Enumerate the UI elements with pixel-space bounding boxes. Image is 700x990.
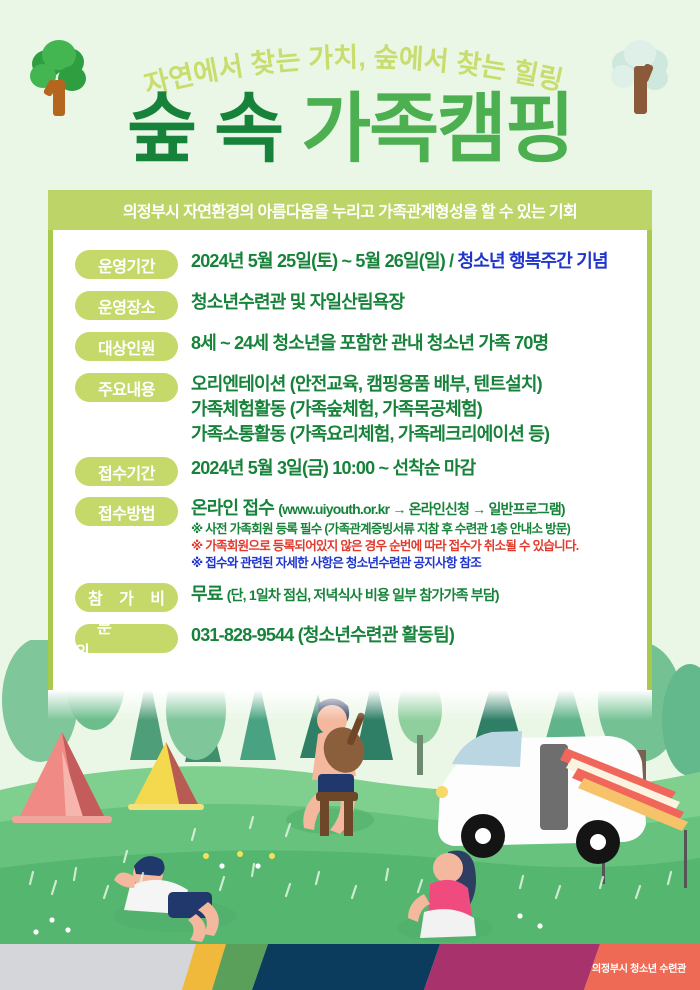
footer-organization: 의정부시 청소년 수련관 bbox=[592, 960, 686, 975]
info-row-label: 운영장소 bbox=[75, 291, 178, 320]
value-segment: 031-828-9544 (청소년수련관 활동팀) bbox=[191, 625, 454, 645]
value-segment: 오리엔테이션 (안전교육, 캠핑용품 배부, 텐트설치) bbox=[191, 374, 542, 394]
info-row-label: 대상인원 bbox=[75, 332, 178, 361]
info-row-label: 참 가 비 bbox=[75, 583, 178, 612]
value-segment: 무료 bbox=[191, 584, 227, 604]
info-row-label: 주요내용 bbox=[75, 373, 178, 402]
poster-root: 자연에서 찾는 가치, 숲에서 찾는 힐링 숲 속 가족캠핑 의정부시 자연환경… bbox=[0, 0, 700, 990]
info-row: 참 가 비무료 (단, 1일차 점심, 저녁식사 비용 일부 참가가족 부담) bbox=[53, 581, 647, 612]
info-row: 운영기간2024년 5월 25일(토) ~ 5월 26일(일) / 청소년 행복… bbox=[53, 248, 647, 279]
info-row-label: 문 의 bbox=[75, 624, 178, 653]
info-row-label: 접수기간 bbox=[75, 457, 178, 486]
info-row-body: 온라인 접수 (www.uiyouth.or.kr → 온라인신청 → 일반프로… bbox=[191, 495, 579, 571]
info-row-body: 무료 (단, 1일차 점심, 저녁식사 비용 일부 참가가족 부담) bbox=[191, 581, 499, 607]
value-segment: (www.uiyouth.or.kr → 온라인신청 → 일반프로그램) bbox=[278, 501, 565, 517]
value-segment: 온라인 접수 bbox=[191, 498, 278, 518]
info-row-value: 2024년 5월 25일(토) ~ 5월 26일(일) / 청소년 행복주간 기… bbox=[191, 249, 608, 274]
info-row-note: ※ 가족회원으로 등록되어있지 않은 경우 순번에 따라 접수가 취소될 수 있… bbox=[191, 538, 579, 555]
info-row-note: ※ 접수와 관련된 자세한 사항은 청소년수련관 공지사항 참조 bbox=[191, 555, 579, 572]
subtitle-banner: 의정부시 자연환경의 아름다움을 누리고 가족관계형성을 할 수 있는 기회 bbox=[48, 190, 652, 230]
footer-block-magenta bbox=[424, 944, 600, 990]
value-segment: 가족소통활동 (가족요리체험, 가족레크리에이션 등) bbox=[191, 424, 549, 444]
info-row-body: 2024년 5월 3일(금) 10:00 ~ 선착순 마감 bbox=[191, 455, 475, 481]
info-row-value: 오리엔테이션 (안전교육, 캠핑용품 배부, 텐트설치) bbox=[191, 372, 549, 397]
info-row-body: 오리엔테이션 (안전교육, 캠핑용품 배부, 텐트설치)가족체험활동 (가족숲체… bbox=[191, 371, 549, 446]
info-row: 운영장소청소년수련관 및 자일산림욕장 bbox=[53, 289, 647, 320]
info-row-note: ※ 사전 가족회원 등록 필수 (가족관계증빙서류 지참 후 수련관 1층 안내… bbox=[191, 521, 579, 538]
info-row-label: 접수방법 bbox=[75, 497, 178, 526]
value-segment: 청소년 행복주간 기념 bbox=[458, 251, 608, 271]
info-row: 대상인원8세 ~ 24세 청소년을 포함한 관내 청소년 가족 70명 bbox=[53, 330, 647, 361]
value-segment: 8세 ~ 24세 청소년을 포함한 관내 청소년 가족 70명 bbox=[191, 333, 548, 353]
page-title: 숲 속 가족캠핑 bbox=[0, 92, 700, 168]
value-segment: 청소년수련관 및 자일산림욕장 bbox=[191, 292, 404, 312]
info-row-value: 2024년 5월 3일(금) 10:00 ~ 선착순 마감 bbox=[191, 456, 475, 481]
footer-bar: 의정부시 청소년 수련관 bbox=[0, 944, 700, 990]
info-row-body: 031-828-9544 (청소년수련관 활동팀) bbox=[191, 622, 454, 648]
info-row: 문 의031-828-9544 (청소년수련관 활동팀) bbox=[53, 622, 647, 653]
value-segment: 2024년 5월 25일(토) ~ 5월 26일(일) / bbox=[191, 251, 458, 271]
footer-block-navy bbox=[252, 944, 440, 990]
info-row: 접수방법온라인 접수 (www.uiyouth.or.kr → 온라인신청 → … bbox=[53, 495, 647, 571]
info-row-value: 8세 ~ 24세 청소년을 포함한 관내 청소년 가족 70명 bbox=[191, 331, 548, 356]
info-row-value: 무료 (단, 1일차 점심, 저녁식사 비용 일부 참가가족 부담) bbox=[191, 582, 499, 607]
info-row-body: 8세 ~ 24세 청소년을 포함한 관내 청소년 가족 70명 bbox=[191, 330, 548, 356]
info-row-value: 청소년수련관 및 자일산림욕장 bbox=[191, 290, 404, 315]
page-title-part2: 가족캠핑 bbox=[301, 87, 573, 172]
value-segment: 2024년 5월 3일(금) 10:00 ~ 선착순 마감 bbox=[191, 458, 475, 478]
info-row-value: 가족소통활동 (가족요리체험, 가족레크리에이션 등) bbox=[191, 422, 549, 447]
page-title-part1: 숲 속 bbox=[127, 87, 301, 172]
info-row-body: 2024년 5월 25일(토) ~ 5월 26일(일) / 청소년 행복주간 기… bbox=[191, 248, 608, 274]
info-card: 운영기간2024년 5월 25일(토) ~ 5월 26일(일) / 청소년 행복… bbox=[48, 230, 652, 690]
subtitle-text: 의정부시 자연환경의 아름다움을 누리고 가족관계형성을 할 수 있는 기회 bbox=[123, 198, 577, 222]
info-row-value: 가족체험활동 (가족숲체험, 가족목공체험) bbox=[191, 397, 549, 422]
info-row-label: 운영기간 bbox=[75, 250, 178, 279]
info-row-value: 온라인 접수 (www.uiyouth.or.kr → 온라인신청 → 일반프로… bbox=[191, 496, 579, 521]
info-row: 주요내용오리엔테이션 (안전교육, 캠핑용품 배부, 텐트설치)가족체험활동 (… bbox=[53, 371, 647, 446]
value-segment: 가족체험활동 (가족숲체험, 가족목공체험) bbox=[191, 399, 482, 419]
info-row: 접수기간2024년 5월 3일(금) 10:00 ~ 선착순 마감 bbox=[53, 455, 647, 486]
info-row-body: 청소년수련관 및 자일산림욕장 bbox=[191, 289, 404, 315]
value-segment: (단, 1일차 점심, 저녁식사 비용 일부 참가가족 부담) bbox=[227, 587, 499, 603]
info-row-value: 031-828-9544 (청소년수련관 활동팀) bbox=[191, 623, 454, 648]
